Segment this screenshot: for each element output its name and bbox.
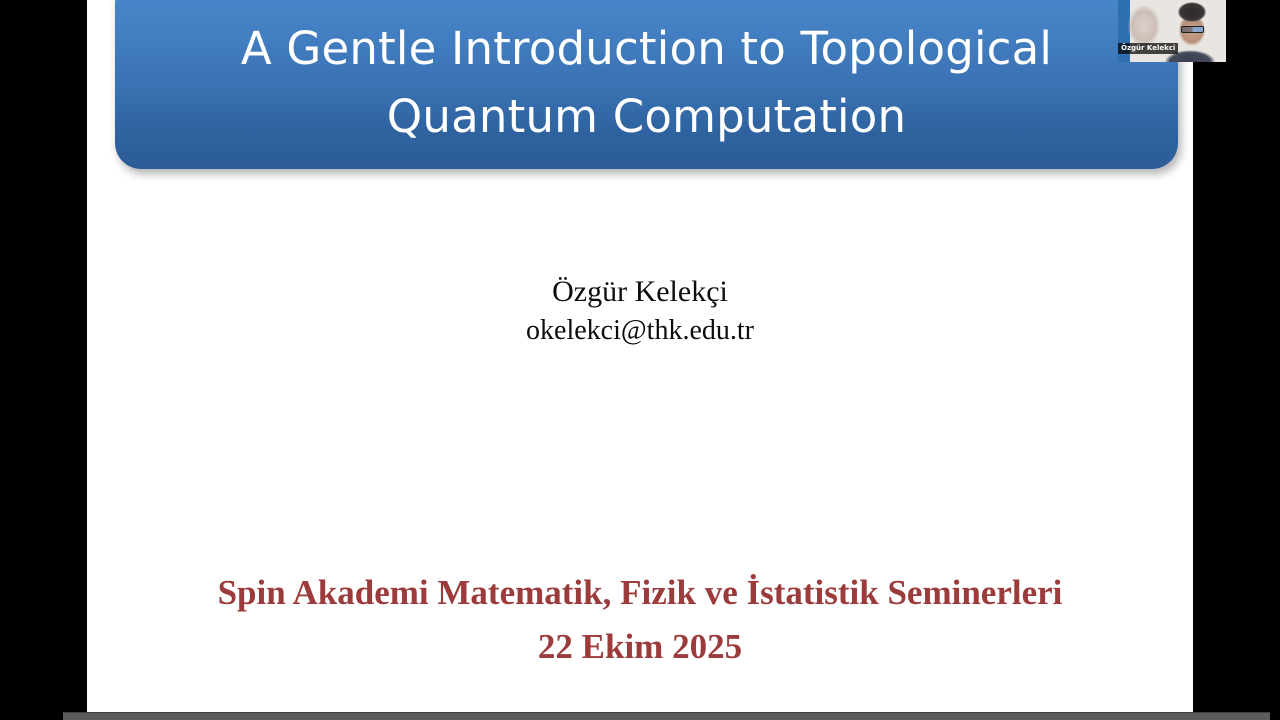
webcam-thumbnail[interactable]: Özgür Kelekci [1118,0,1226,62]
presentation-slide: A Gentle Introduction to Topological Qua… [87,0,1193,712]
bottom-toolbar-strip[interactable] [63,712,1270,720]
seminar-block: Spin Akademi Matematik, Fizik ve İstatis… [87,566,1193,674]
slide-title-banner: A Gentle Introduction to Topological Qua… [115,0,1178,169]
glasses-icon [1181,26,1204,33]
slide-title-line-2: Quantum Computation [387,83,906,151]
author-email: okelekci@thk.edu.tr [87,312,1193,350]
seminar-date: 22 Ekim 2025 [87,620,1193,674]
video-call-screen: A Gentle Introduction to Topological Qua… [0,0,1280,720]
author-name: Özgür Kelekçi [87,272,1193,312]
slide-title-line-1: A Gentle Introduction to Topological [241,15,1052,83]
seminar-series-title: Spin Akademi Matematik, Fizik ve İstatis… [87,566,1193,620]
webcam-participant-name: Özgür Kelekci [1118,43,1178,54]
author-block: Özgür Kelekçi okelekci@thk.edu.tr [87,272,1193,350]
